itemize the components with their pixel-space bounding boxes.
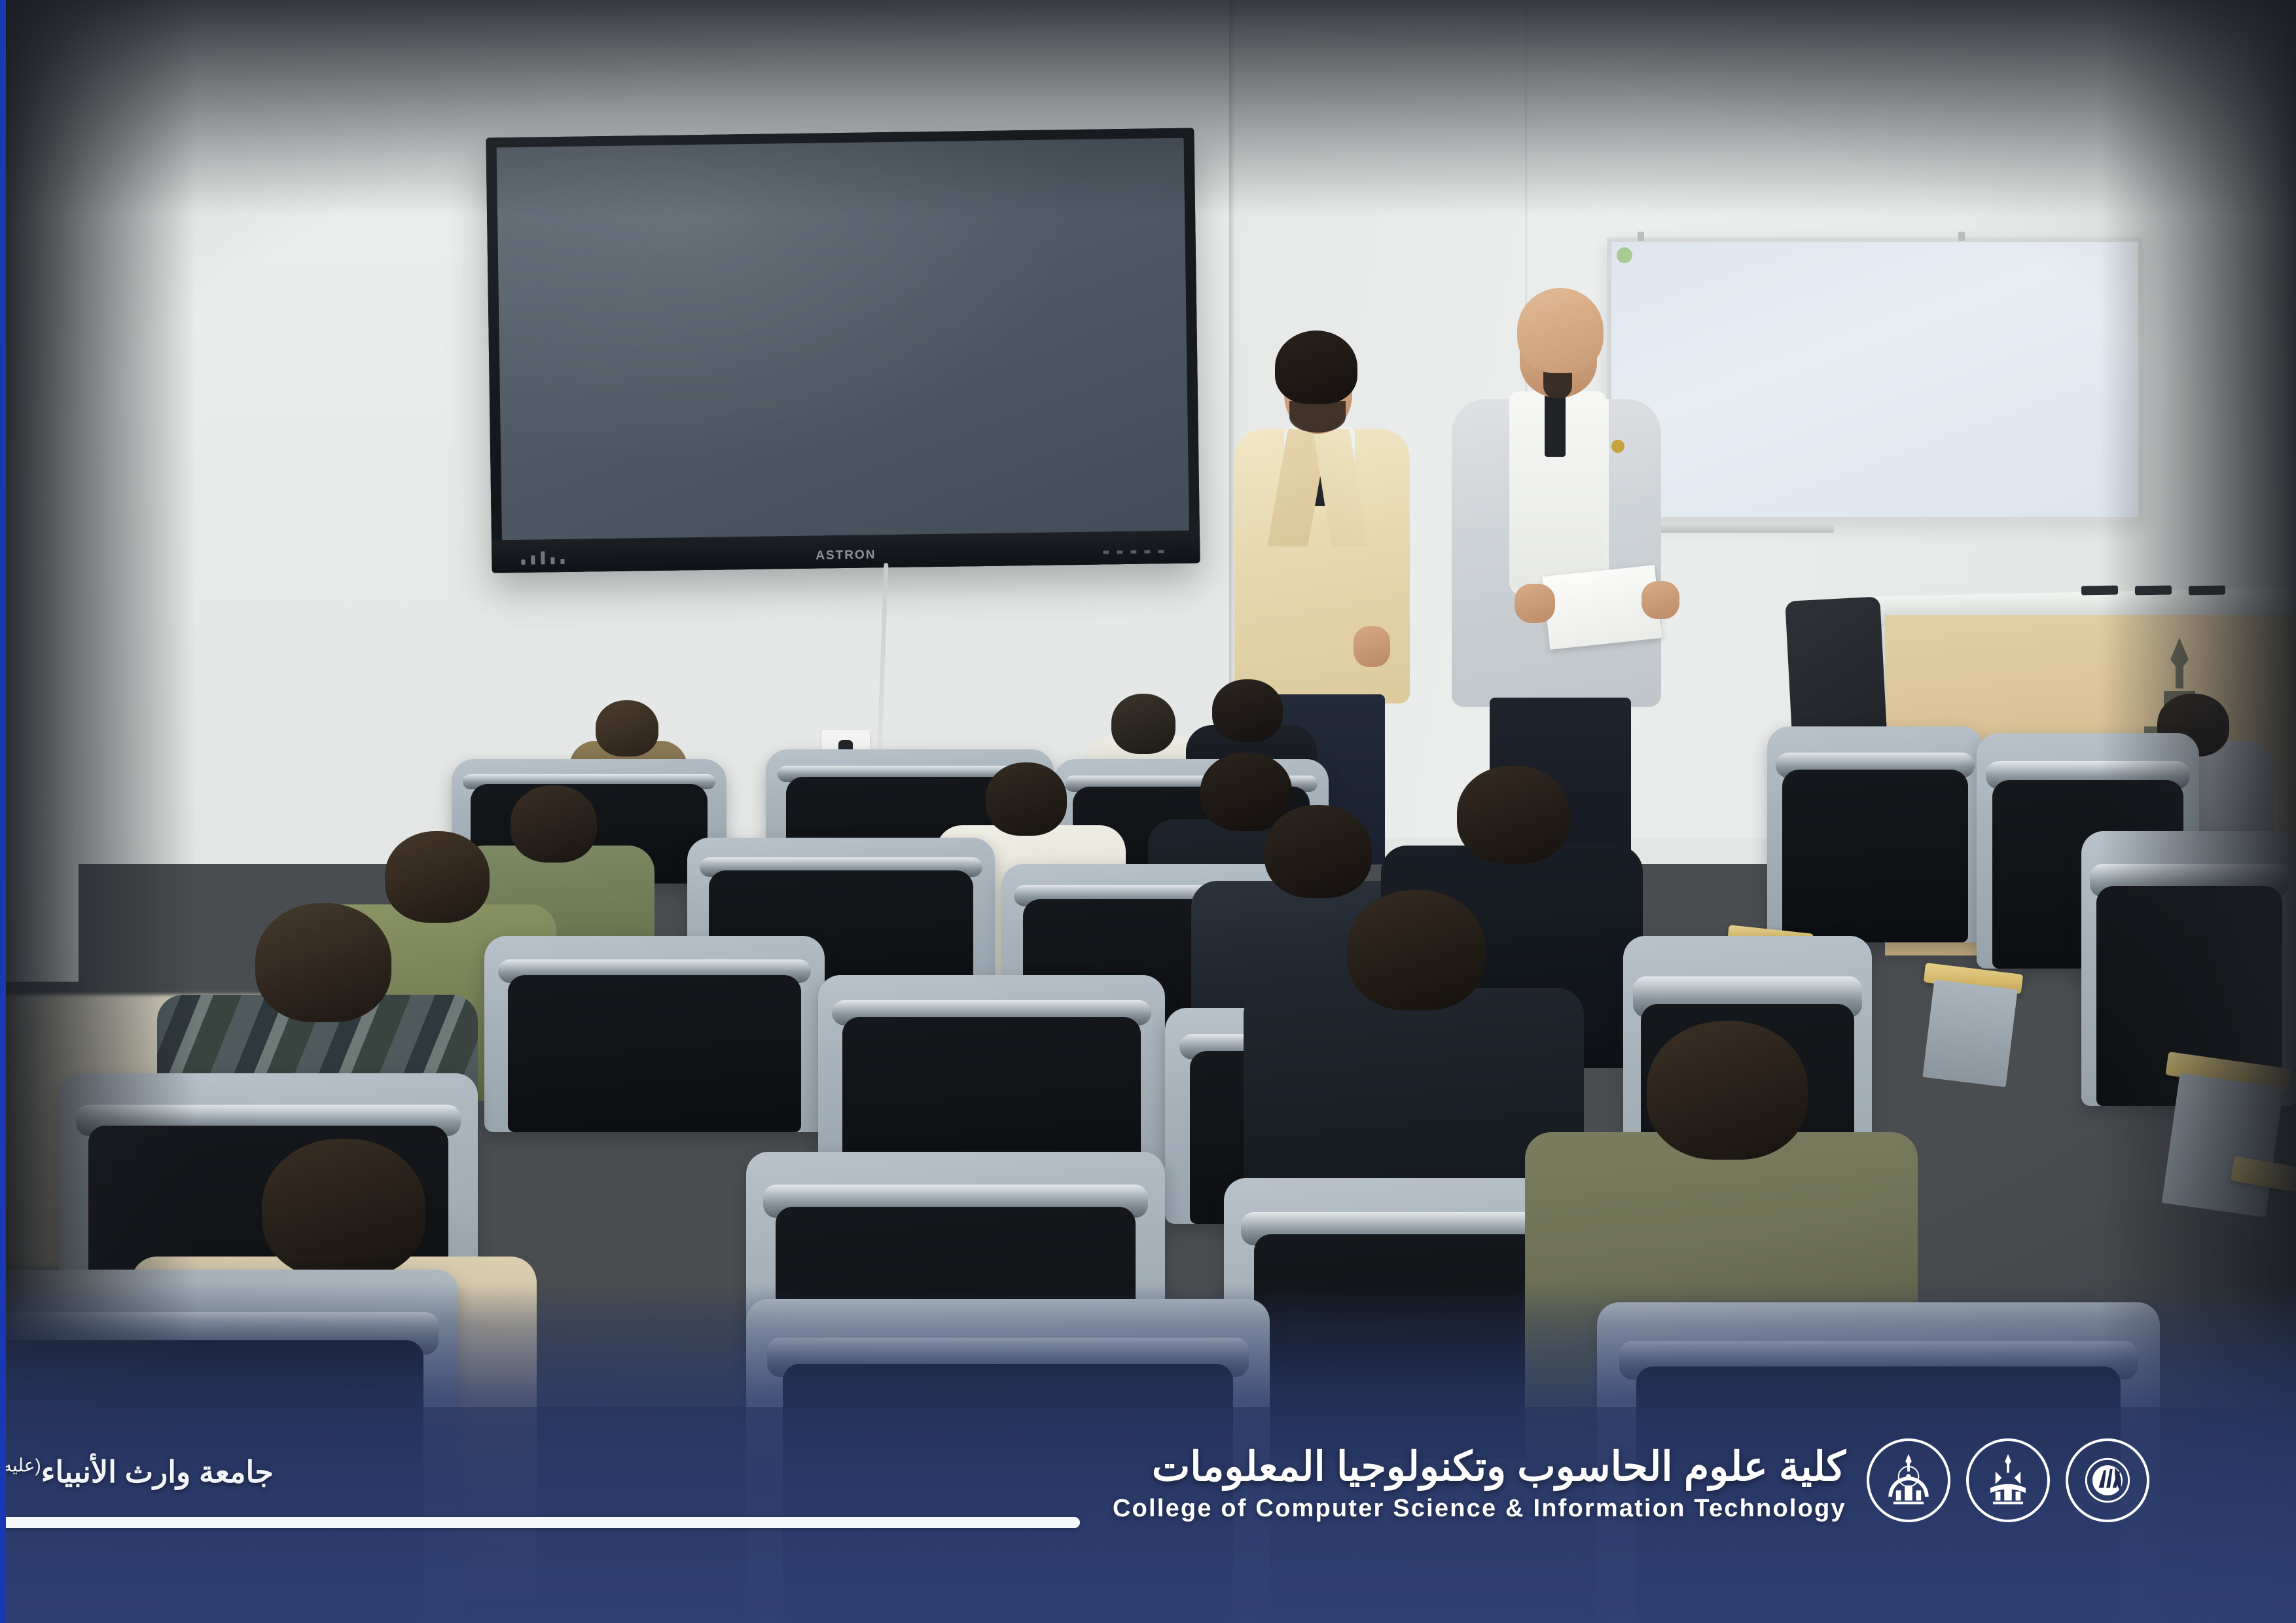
college-title-block: كلية علوم الحاسوب وتكنولوجيا المعلومات C… (1113, 1445, 1846, 1523)
left-wall-column (0, 0, 79, 982)
student-head (1457, 766, 1570, 864)
student-head (1265, 805, 1372, 898)
left-edge-accent (0, 0, 6, 1623)
auditorium-seat (0, 1270, 458, 1623)
whiteboard (1607, 238, 2143, 522)
seat-backrest (1782, 770, 1968, 942)
seat-armrest-post (1922, 980, 2017, 1087)
student-head (1212, 679, 1283, 742)
presenter-left-beard (1289, 401, 1346, 433)
poster-root: ASTRON (0, 0, 2296, 1623)
display-brand-label: ASTRON (816, 548, 876, 563)
auditorium-seat (484, 936, 825, 1132)
student-head (511, 785, 597, 863)
college-name-arabic: كلية علوم الحاسوب وتكنولوجيا المعلومات (1113, 1445, 1846, 1489)
presenter-left-hair (1275, 330, 1357, 404)
seal-college-icon (1867, 1438, 1950, 1522)
display-screen (497, 138, 1189, 541)
whiteboard-mount-clip (1638, 232, 1644, 241)
college-name-english: College of Computer Science & Informatio… (1113, 1495, 1846, 1523)
seat-backrest (508, 975, 800, 1132)
presenter-left-hand (1354, 626, 1390, 667)
display-indicator-leds (521, 551, 564, 565)
display-port-row (1103, 550, 1164, 554)
presenter-right-goatee (1543, 372, 1572, 399)
university-honorific: (عليه السلام) (0, 1455, 41, 1476)
student-head (1347, 890, 1486, 1010)
footer-accent-rule (0, 1517, 1080, 1528)
student-head (262, 1139, 425, 1279)
interactive-display-panel: ASTRON (486, 128, 1200, 573)
presenter-right-hand (1641, 581, 1679, 619)
auditorium-seat (1767, 726, 1983, 942)
whiteboard-sticker (1617, 247, 1632, 263)
presenter-right-tie (1545, 394, 1566, 457)
footer-seal-row (1867, 1438, 2149, 1522)
seal-ministry-icon (2066, 1438, 2149, 1522)
student-head (986, 762, 1067, 836)
presenter-right-lapel-pin (1611, 440, 1624, 453)
student-head (1111, 694, 1175, 754)
student (1604, 1021, 1852, 1302)
university-name-arabic: جامعة وارث الأنبياء (41, 1455, 274, 1489)
presenter-right-head (1517, 288, 1604, 373)
seal-university-icon (1966, 1438, 2050, 1522)
whiteboard-mount-clip (1958, 232, 1965, 241)
exam-hall-photograph: ASTRON (0, 0, 2296, 1623)
presenter-right-hand (1515, 584, 1555, 623)
university-name: جامعة وارث الأنبياء(عليه السلام) (0, 1454, 274, 1489)
podium-equipment (2081, 586, 2225, 595)
student-head (255, 903, 391, 1022)
seat-armrest-post (2162, 1073, 2284, 1217)
student-head (596, 700, 658, 757)
student-head (1647, 1021, 1808, 1160)
student (1309, 890, 1525, 1139)
